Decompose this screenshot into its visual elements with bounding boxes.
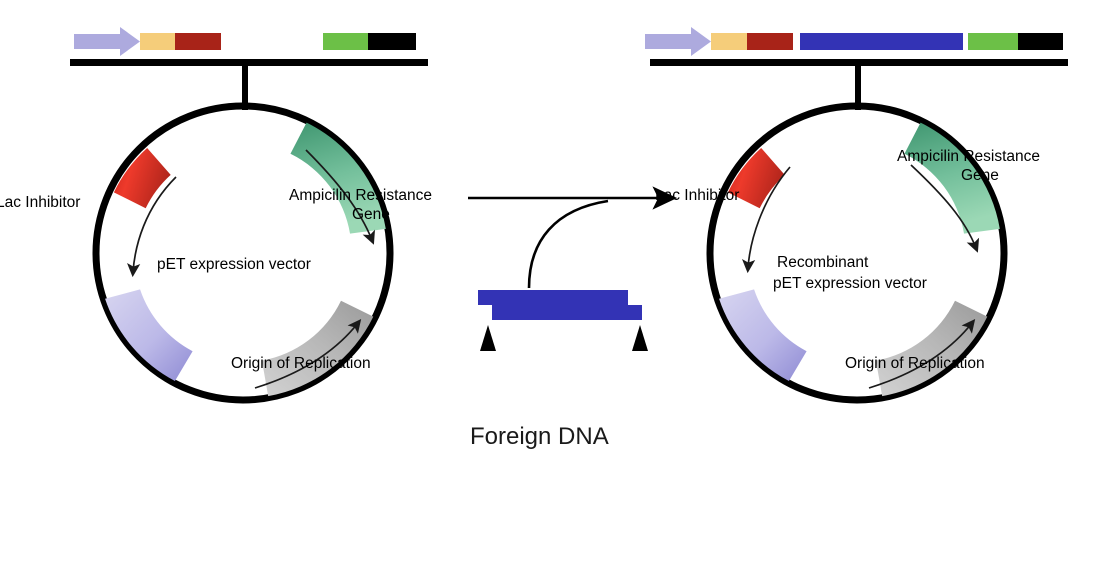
right-tag-red-box	[747, 33, 793, 50]
left-terminator-green-box	[323, 33, 368, 50]
right-insert-blue-box	[800, 33, 963, 50]
restriction-site-marker-left-icon	[480, 325, 496, 351]
left-origin-replication-label: Origin of Replication	[231, 355, 371, 372]
left-vector-name-label: pET expression vector	[157, 256, 311, 273]
left-tag-red-box	[175, 33, 221, 50]
left-terminator-black-box	[368, 33, 416, 50]
foreign-dna-bottom-strand	[492, 305, 642, 320]
left-lac-inhibitor-arc	[114, 148, 171, 208]
right-amp-label-line1: Ampicilin Resistance	[897, 148, 1040, 165]
left-amp-label-line2: Gene	[352, 206, 390, 223]
right-vector-name-line1: Recombinant	[777, 254, 869, 271]
right-tag-gold-box	[711, 33, 747, 50]
diagram-canvas: Lac Inhibitor Ampicilin Resistance Gene …	[0, 0, 1096, 569]
right-lac-inhibitor-label: Lac Inhibitor	[655, 187, 739, 204]
left-plasmid-panel: Lac Inhibitor Ampicilin Resistance Gene …	[0, 27, 432, 400]
left-tag-gold-box	[140, 33, 175, 50]
right-linear-map	[645, 27, 1068, 110]
left-lac-inhibitor-label: Lac Inhibitor	[0, 194, 80, 211]
left-amp-label-line1: Ampicilin Resistance	[289, 187, 432, 204]
foreign-dna-top-strand	[478, 290, 628, 305]
right-origin-replication-label: Origin of Replication	[845, 355, 985, 372]
center-panel: Foreign DNA	[468, 198, 668, 450]
right-vector-name-line2: pET expression vector	[773, 275, 927, 292]
left-linear-map	[70, 27, 428, 110]
foreign-dna-fragment	[478, 290, 648, 351]
right-promoter-arrow-icon	[645, 27, 711, 56]
insert-feed-curve	[529, 201, 608, 288]
right-terminator-black-box	[1018, 33, 1063, 50]
restriction-site-marker-right-icon	[632, 325, 648, 351]
foreign-dna-label: Foreign DNA	[470, 423, 609, 450]
right-amp-label-line2: Gene	[961, 167, 999, 184]
plasmid-cloning-diagram: Lac Inhibitor Ampicilin Resistance Gene …	[0, 0, 1096, 569]
right-terminator-green-box	[968, 33, 1018, 50]
right-plasmid-panel: Lac Inhibitor Ampicilin Resistance Gene …	[645, 27, 1068, 400]
left-promoter-arrow-icon	[74, 27, 140, 56]
